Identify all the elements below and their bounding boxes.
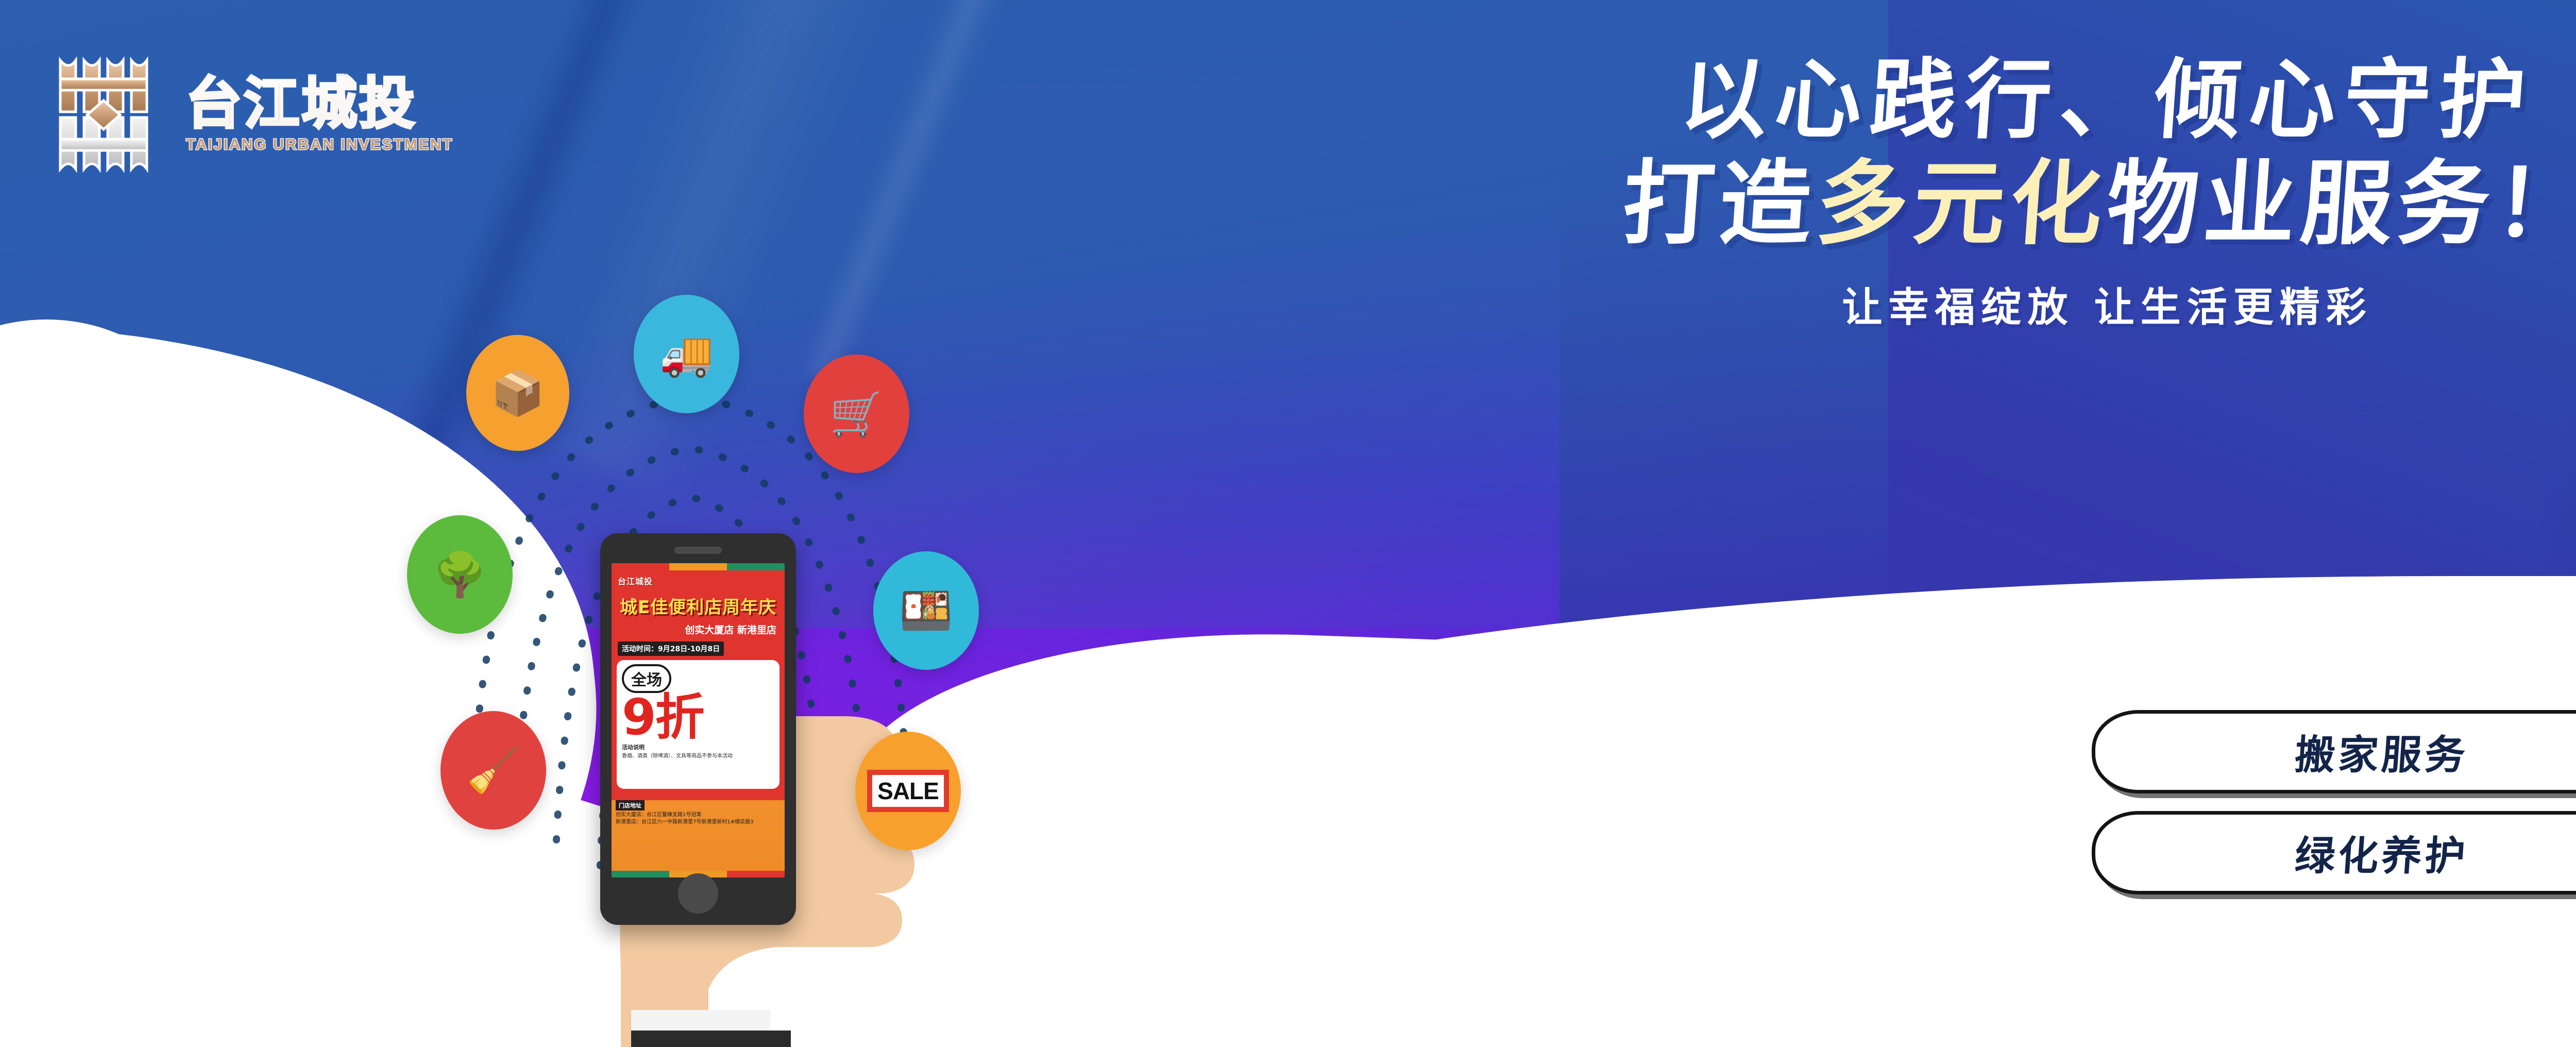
- recycle-truck-glyph: 🚚: [659, 332, 714, 376]
- phone-speaker-icon: [674, 547, 722, 554]
- sale-tag-icon: SALE: [855, 732, 961, 850]
- poster-title: 城E佳便利店周年庆: [612, 593, 785, 618]
- promotional-banner: 台江城投 TAIJIANG URBAN INVESTMENT 以心践行、倾心守护…: [0, 0, 2576, 1047]
- snack-box-glyph: 🍱: [899, 589, 953, 632]
- moving-box-icon: 📦: [466, 335, 569, 451]
- cleaner-icon: 🧹: [440, 711, 546, 830]
- poster-top-colorbar: [612, 563, 785, 570]
- moving-box-glyph: 📦: [491, 371, 545, 415]
- service-label: 搬家服务: [2293, 723, 2470, 781]
- tree-icon: 🌳: [407, 515, 513, 634]
- tree-glyph: 🌳: [433, 553, 487, 596]
- cleaner-glyph: 🧹: [466, 749, 520, 792]
- poster-orange-footer: 门店地址 创实大厦店：台江区鳌峰支路1号冠寓 新港里店：台江区六一中路新港里7号…: [612, 800, 785, 877]
- smartphone-mockup: 台江城投 城E佳便利店周年庆 创实大厦店 新港里店 活动时间：9月28日-10月…: [600, 533, 796, 925]
- sale-tag-label: SALE: [867, 770, 949, 812]
- poster-note-body: 香烟、酒类（除啤酒）、文具等商品不参与本活动: [622, 751, 774, 759]
- service-button-grid: 搬家服务 商品零售 家政服务 绿化养护 停车服务 环境卫生: [2092, 710, 2576, 894]
- brand-wordmark: 台江城投 TAIJIANG URBAN INVESTMENT: [186, 76, 453, 154]
- poster-brand-logo: 台江城投: [618, 575, 785, 587]
- phone-home-button[interactable]: [678, 873, 718, 914]
- phone-hand-illustration: 台江城投 城E佳便利店周年庆 创实大厦店 新港里店 活动时间：9月28日-10月…: [319, 319, 1051, 1047]
- poster-time-badge: 活动时间：9月28日-10月8日: [618, 641, 724, 656]
- shopping-cart-icon: 🛒: [804, 354, 909, 473]
- headline-line-2-after: 物业服务！: [2104, 150, 2576, 257]
- phone-screen: 台江城投 城E佳便利店周年庆 创实大厦店 新港里店 活动时间：9月28日-10月…: [612, 563, 785, 877]
- poster-white-card: 全场 9折 活动说明 香烟、酒类（除啤酒）、文具等商品不参与本活动: [617, 660, 779, 789]
- service-button-greening[interactable]: 绿化养护: [2092, 811, 2576, 894]
- brand-name-en: TAIJIANG URBAN INVESTMENT: [186, 136, 453, 154]
- snack-box-icon: 🍱: [873, 551, 979, 670]
- poster-address-label: 门店地址: [616, 800, 645, 810]
- service-button-moving[interactable]: 搬家服务: [2092, 710, 2576, 793]
- headline-line-2-before: 打造: [1619, 150, 1820, 257]
- headline-line-2: 打造多元化物业服务！: [1176, 153, 2576, 255]
- poster-address-line-2: 新港里店：台江区六一中路新港里7号新港里新村1#楼店面3: [616, 819, 785, 826]
- brand-logo[interactable]: 台江城投 TAIJIANG URBAN INVESTMENT: [54, 49, 453, 180]
- brand-name-cn: 台江城投: [186, 76, 453, 132]
- headline-line-1: 以心践行、倾心守护: [1176, 52, 2576, 148]
- poster-stores: 创实大厦店 新港里店: [612, 622, 785, 636]
- taijiang-gate-emblem-icon: [54, 49, 173, 180]
- headline-block: 以心践行、倾心守护 打造多元化物业服务！ 让幸福绽放 让生活更精彩: [1180, 52, 2576, 333]
- shopping-cart-glyph: 🛒: [829, 392, 884, 435]
- headline-subtitle: 让幸福绽放 让生活更精彩: [1180, 275, 2576, 333]
- service-label: 绿化养护: [2293, 824, 2470, 882]
- poster-discount: 9折: [622, 694, 774, 741]
- poster-address-line-1: 创实大厦店：台江区鳌峰支路1号冠寓: [616, 812, 785, 819]
- headline-line-2-accent: 多元化: [1813, 150, 2111, 257]
- recycle-truck-icon: 🚚: [634, 295, 739, 413]
